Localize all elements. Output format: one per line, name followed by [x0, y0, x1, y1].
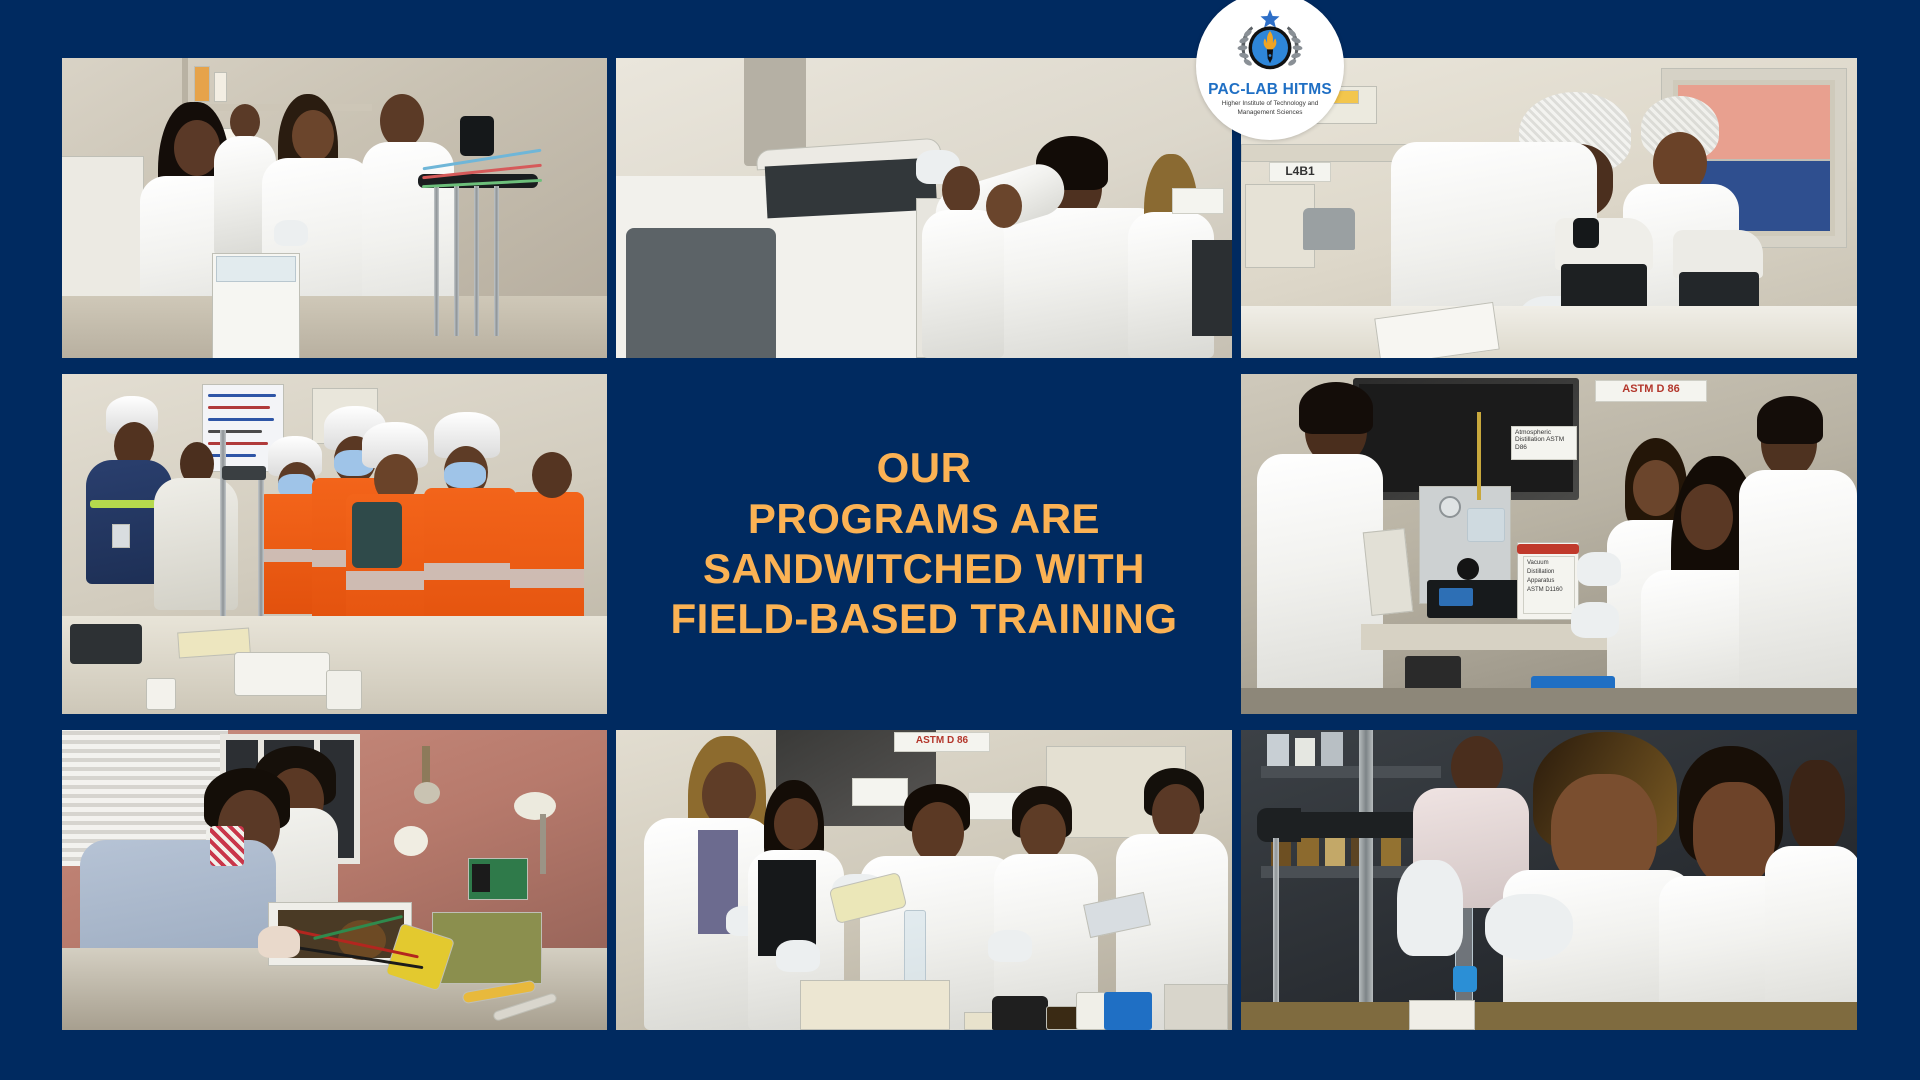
headline-line-2: PROGRAMS ARE	[748, 494, 1100, 544]
photo-instrument	[616, 58, 1232, 358]
photo-field-visit	[62, 374, 607, 714]
photo-titration	[1241, 730, 1857, 1030]
photo-pouring: ASTM D 86	[616, 730, 1232, 1030]
headline-line-3: SANDWITCHED WITH	[703, 544, 1145, 594]
logo-subtitle: Higher Institute of Technology and Manag…	[1212, 100, 1328, 117]
photo-sign-astm: ASTM D 86	[894, 732, 990, 752]
collage-photo-middle-left	[62, 374, 607, 714]
photo-sign-vacuum-distillation: Vacuum Distillation Apparatus ASTM D1160	[1523, 556, 1575, 614]
collage-photo-bottom-center: ASTM D 86	[616, 730, 1232, 1030]
photo-sign	[1172, 188, 1224, 214]
photo-sign-atm-distillation: Atmospheric Distillation ASTM D86	[1511, 426, 1577, 460]
pac-lab-emblem-icon	[1231, 8, 1309, 80]
collage-photo-bottom-left	[62, 730, 607, 1030]
star-icon	[1261, 10, 1280, 28]
collage-photo-bottom-right	[1241, 730, 1857, 1030]
photo-sign-l4b1: L4B1	[1269, 162, 1331, 182]
headline-block: OUR PROGRAMS ARE SANDWITCHED WITH FIELD-…	[616, 374, 1232, 714]
headline-line-1: OUR	[877, 443, 972, 493]
collage-photo-top-left	[62, 58, 607, 358]
photo-collage-grid: L4B1	[62, 58, 1857, 1031]
collage-photo-top-center	[616, 58, 1232, 358]
logo-name: PAC-LAB HITMS	[1208, 81, 1332, 99]
photo-distillation: ASTM D 86 Atmospheric Distillation ASTM …	[1241, 374, 1857, 714]
photo-sign-astm-d86: ASTM D 86	[1595, 380, 1707, 402]
collage-photo-middle-right: ASTM D 86 Atmospheric Distillation ASTM …	[1241, 374, 1857, 714]
photo-chem-store	[62, 58, 607, 358]
photo-electronics	[62, 730, 607, 1030]
headline-line-4: FIELD-BASED TRAINING	[671, 594, 1178, 644]
